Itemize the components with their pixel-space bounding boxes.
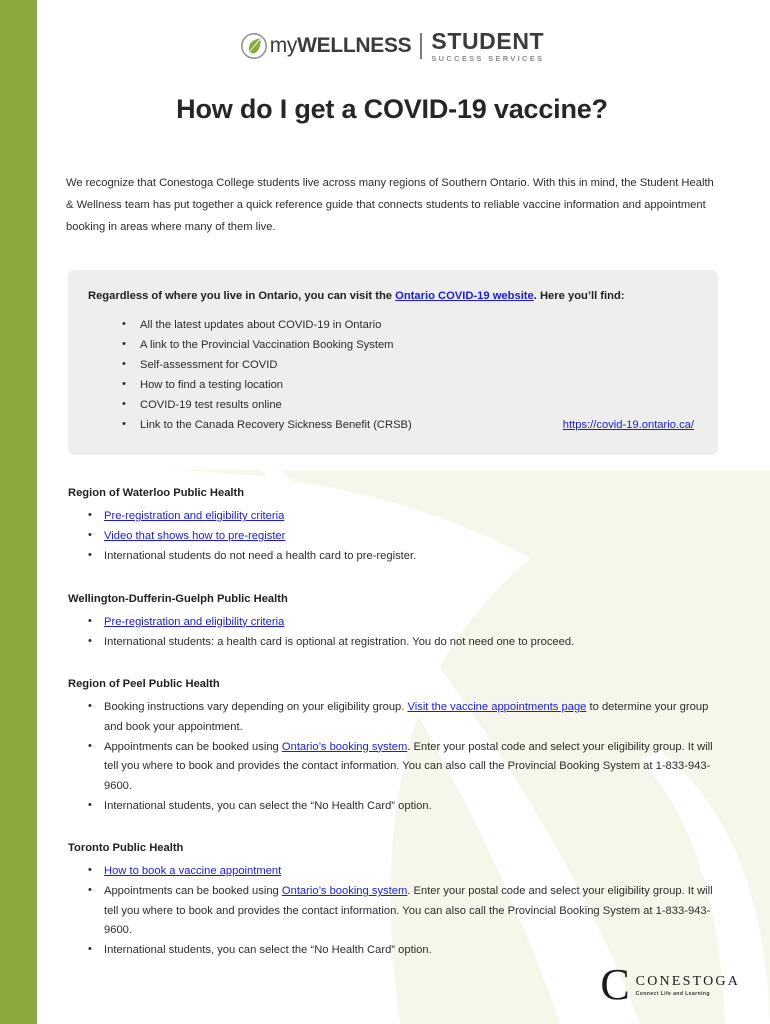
document-page: myWELLNESS STUDENT SUCCESS SERVICES How … <box>0 0 770 1024</box>
leaf-icon <box>240 32 268 60</box>
list-item-text: Appointments can be booked using <box>104 885 282 897</box>
health-region-list-item: How to book a vaccine appointment <box>66 862 718 882</box>
ontario-covid-website-link[interactable]: Ontario COVID-19 website <box>395 290 534 302</box>
logo-my: my <box>270 34 297 57</box>
health-region-list-item: Video that shows how to pre-register <box>66 527 718 547</box>
resource-link[interactable]: Pre-registration and eligibility criteri… <box>104 510 284 522</box>
resource-link[interactable]: Ontario’s booking system <box>282 741 407 753</box>
ontario-callout-box: Regardless of where you live in Ontario,… <box>68 270 718 455</box>
resource-link[interactable]: How to book a vaccine appointment <box>104 865 281 877</box>
health-region-list-item: International students: a health card is… <box>66 633 718 653</box>
document-content: myWELLNESS STUDENT SUCCESS SERVICES How … <box>0 0 770 1024</box>
intro-paragraph: We recognize that Conestoga College stud… <box>66 172 718 238</box>
callout-list-item: How to find a testing location <box>88 375 698 395</box>
health-region-heading: Region of Waterloo Public Health <box>68 487 718 499</box>
callout-list-item-label: A link to the Provincial Vaccination Boo… <box>140 339 394 351</box>
logo-student-text: STUDENT <box>431 30 544 53</box>
resource-link[interactable]: Video that shows how to pre-register <box>104 530 285 542</box>
resource-link[interactable]: Ontario’s booking system <box>282 885 407 897</box>
health-region-section: Region of Waterloo Public HealthPre-regi… <box>66 487 718 567</box>
health-region-bullet-list: Booking instructions vary depending on y… <box>66 698 718 816</box>
list-item-text: International students, you can select t… <box>104 800 432 812</box>
callout-list-item: COVID-19 test results online <box>88 395 698 415</box>
callout-list-item: A link to the Provincial Vaccination Boo… <box>88 335 698 355</box>
health-region-list-item: Pre-registration and eligibility criteri… <box>66 507 718 527</box>
left-green-accent-bar <box>0 0 37 1024</box>
health-region-bullet-list: Pre-registration and eligibility criteri… <box>66 613 718 653</box>
callout-list-item-label: All the latest updates about COVID-19 in… <box>140 319 381 331</box>
list-item-text: International students, you can select t… <box>104 944 432 956</box>
callout-last-row: Link to the Canada Recovery Sickness Ben… <box>140 415 698 435</box>
health-region-list-item: International students, you can select t… <box>66 941 718 961</box>
health-region-list-item: Pre-registration and eligibility criteri… <box>66 613 718 633</box>
list-item-text: Appointments can be booked using <box>104 741 282 753</box>
logo-mywellness-text: myWELLNESS <box>270 34 412 58</box>
list-item-text: International students do not need a hea… <box>104 550 416 562</box>
list-item-text: Booking instructions vary depending on y… <box>104 701 407 713</box>
logo-student-block: STUDENT SUCCESS SERVICES <box>431 30 544 63</box>
health-region-heading: Wellington-Dufferin-Guelph Public Health <box>68 593 718 605</box>
health-region-list-item: International students do not need a hea… <box>66 547 718 567</box>
health-region-bullet-list: Pre-registration and eligibility criteri… <box>66 507 718 567</box>
mywellness-student-success-logo: myWELLNESS STUDENT SUCCESS SERVICES <box>66 0 718 46</box>
callout-list-item-label: How to find a testing location <box>140 379 283 391</box>
logo-wellness: WELLNESS <box>297 34 411 57</box>
health-region-heading: Toronto Public Health <box>68 842 718 854</box>
health-region-list-item: Appointments can be booked using Ontario… <box>66 738 718 797</box>
callout-list-item-label: COVID-19 test results online <box>140 399 282 411</box>
conestoga-name: CONESTOGA <box>636 975 740 989</box>
health-region-list-item: Booking instructions vary depending on y… <box>66 698 718 737</box>
callout-bullet-list: All the latest updates about COVID-19 in… <box>88 315 698 435</box>
conestoga-monogram-icon: C <box>600 968 629 1002</box>
logo-divider <box>420 33 422 59</box>
callout-list-item: All the latest updates about COVID-19 in… <box>88 315 698 335</box>
regional-sections: Region of Waterloo Public HealthPre-regi… <box>66 487 718 961</box>
conestoga-logo: C CONESTOGA Connect Life and Learning <box>600 970 740 1002</box>
health-region-section: Wellington-Dufferin-Guelph Public Health… <box>66 593 718 653</box>
list-item-text: International students: a health card is… <box>104 636 574 648</box>
callout-heading-before: Regardless of where you live in Ontario,… <box>88 290 395 302</box>
callout-list-item: Self-assessment for COVID <box>88 355 698 375</box>
conestoga-wordmark: CONESTOGA Connect Life and Learning <box>636 975 740 997</box>
callout-heading-after: . Here you’ll find: <box>534 290 625 302</box>
resource-link[interactable]: Pre-registration and eligibility criteri… <box>104 616 284 628</box>
callout-list-item: Link to the Canada Recovery Sickness Ben… <box>88 415 698 435</box>
health-region-list-item: International students, you can select t… <box>66 797 718 817</box>
page-title: How do I get a COVID-19 vaccine? <box>66 94 718 125</box>
resource-link[interactable]: Visit the vaccine appointments page <box>407 701 586 713</box>
health-region-section: Region of Peel Public HealthBooking inst… <box>66 678 718 816</box>
health-region-list-item: Appointments can be booked using Ontario… <box>66 882 718 941</box>
ontario-covid-url-link[interactable]: https://covid-19.ontario.ca/ <box>563 415 694 435</box>
callout-heading: Regardless of where you live in Ontario,… <box>88 287 698 305</box>
logo-success-services-text: SUCCESS SERVICES <box>431 55 544 63</box>
health-region-section: Toronto Public HealthHow to book a vacci… <box>66 842 718 961</box>
callout-list-item-label: Link to the Canada Recovery Sickness Ben… <box>140 415 412 435</box>
health-region-heading: Region of Peel Public Health <box>68 678 718 690</box>
health-region-bullet-list: How to book a vaccine appointment Appoin… <box>66 862 718 961</box>
callout-list-item-label: Self-assessment for COVID <box>140 359 277 371</box>
conestoga-tagline: Connect Life and Learning <box>636 992 740 997</box>
